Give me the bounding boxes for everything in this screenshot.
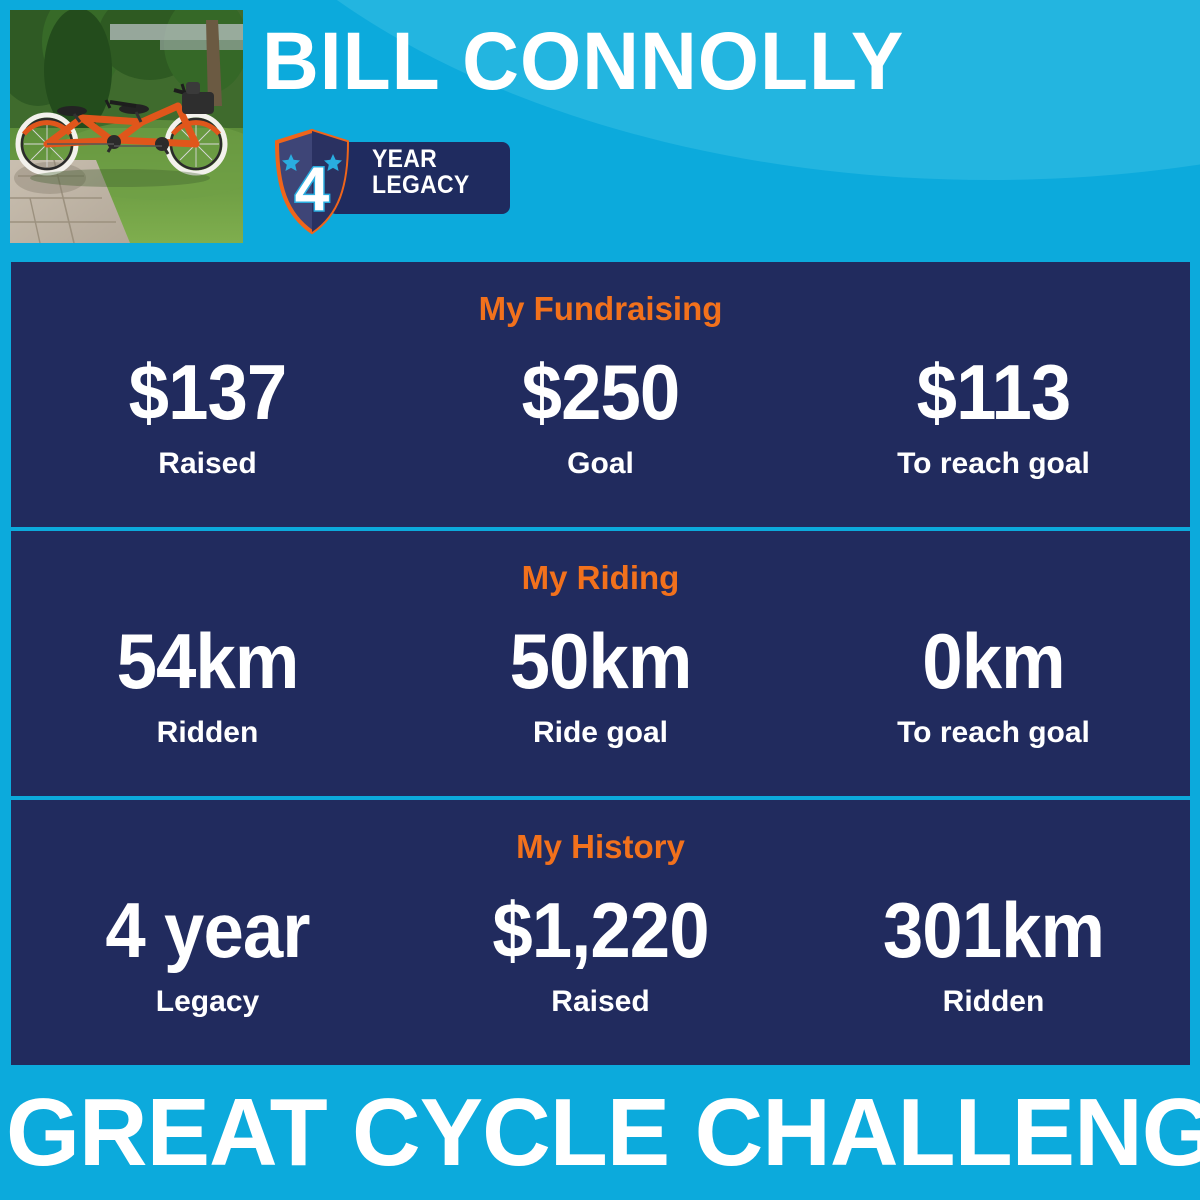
- stat-label: To reach goal: [797, 715, 1190, 751]
- stat-label: Ridden: [797, 984, 1190, 1020]
- stat-value: 301km: [811, 882, 1176, 978]
- fundraiser-stat-poster: BILL CONNOLLY 4 YEAR LEGACY: [0, 0, 1200, 1200]
- stats-panel: My Fundraising $137 Raised $250 Goal $11…: [11, 262, 1190, 1065]
- rider-photo: [10, 10, 243, 243]
- stat-cell-legacy: 4 year Legacy: [11, 876, 404, 1020]
- poster-header: BILL CONNOLLY 4 YEAR LEGACY: [0, 0, 1200, 262]
- stat-label: To reach goal: [797, 446, 1190, 482]
- stat-cell-raised: $137 Raised: [11, 338, 404, 482]
- section-my-riding: My Riding 54km Ridden 50km Ride goal 0km…: [11, 527, 1190, 796]
- page-title: BILL CONNOLLY: [262, 16, 1126, 108]
- stat-value: 4 year: [25, 882, 390, 978]
- section-title: My History: [11, 828, 1190, 866]
- stat-row: $137 Raised $250 Goal $113 To reach goal: [11, 338, 1190, 515]
- stat-value: 54km: [25, 613, 390, 709]
- stat-cell-to-reach-ride-goal: 0km To reach goal: [797, 607, 1190, 751]
- shield-icon: 4: [272, 128, 352, 236]
- legacy-badge: 4 YEAR LEGACY: [272, 128, 512, 236]
- stat-cell-ridden: 54km Ridden: [11, 607, 404, 751]
- stat-label: Raised: [404, 984, 797, 1020]
- legacy-plate-label: YEAR LEGACY: [372, 146, 470, 198]
- legacy-line-1: YEAR: [372, 146, 470, 172]
- stat-value: $250: [418, 344, 783, 440]
- stat-label: Goal: [404, 446, 797, 482]
- stat-cell-lifetime-raised: $1,220 Raised: [404, 876, 797, 1020]
- stat-cell-goal: $250 Goal: [404, 338, 797, 482]
- stat-cell-lifetime-ridden: 301km Ridden: [797, 876, 1190, 1020]
- stat-value: $113: [811, 344, 1176, 440]
- stat-value: $137: [25, 344, 390, 440]
- section-my-fundraising: My Fundraising $137 Raised $250 Goal $11…: [11, 262, 1190, 527]
- stat-label: Legacy: [11, 984, 404, 1020]
- section-title: My Fundraising: [11, 290, 1190, 328]
- stat-label: Raised: [11, 446, 404, 482]
- stat-value: 50km: [418, 613, 783, 709]
- section-title: My Riding: [11, 559, 1190, 597]
- legacy-year-number: 4: [295, 155, 330, 224]
- stat-label: Ride goal: [404, 715, 797, 751]
- legacy-line-2: LEGACY: [372, 172, 470, 198]
- tandem-bicycle-photo-illustration: [10, 10, 243, 243]
- stat-label: Ridden: [11, 715, 404, 751]
- stat-value: 0km: [811, 613, 1176, 709]
- poster-footer: GREAT CYCLE CHALLENGE: [0, 1065, 1200, 1200]
- brand-wordmark: GREAT CYCLE CHALLENGE: [6, 1079, 1194, 1187]
- stat-cell-ride-goal: 50km Ride goal: [404, 607, 797, 751]
- stat-cell-to-reach-goal: $113 To reach goal: [797, 338, 1190, 482]
- stat-row: 54km Ridden 50km Ride goal 0km To reach …: [11, 607, 1190, 784]
- stat-row: 4 year Legacy $1,220 Raised 301km Ridden: [11, 876, 1190, 1053]
- stat-value: $1,220: [418, 882, 783, 978]
- section-my-history: My History 4 year Legacy $1,220 Raised 3…: [11, 796, 1190, 1065]
